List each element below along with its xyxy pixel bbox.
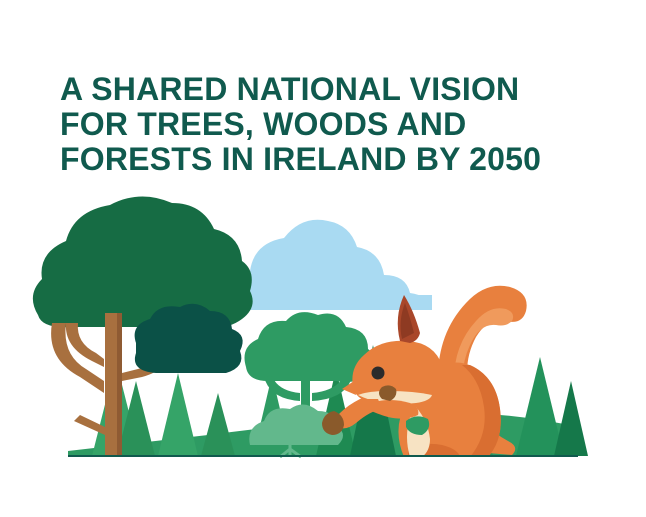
illustration-svg (18, 195, 628, 460)
poster-canvas: A SHARED NATIONAL VISION FOR TREES, WOOD… (0, 0, 646, 517)
page-title: A SHARED NATIONAL VISION FOR TREES, WOOD… (60, 72, 620, 177)
ground-line (68, 455, 578, 457)
forest-scene-illustration (18, 195, 628, 460)
